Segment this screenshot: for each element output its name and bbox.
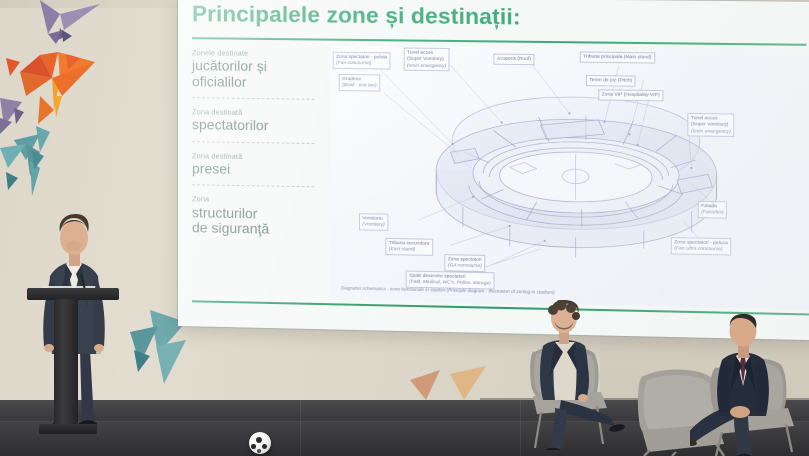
zone-item-security: Zona structurilor de siguranţă <box>192 195 325 248</box>
conference-room-scene: Principalele zone și destinații: Zonele … <box>0 0 809 456</box>
podium <box>27 288 119 438</box>
projection-screen: Principalele zone și destinații: Zonele … <box>178 0 809 340</box>
zone-label-big: presei <box>192 161 325 179</box>
diagram-label-gradene: Gradene (Bowl - one tier) <box>339 74 380 91</box>
panelist-right <box>690 312 809 456</box>
podium-base <box>39 424 97 434</box>
stadium-wireframe-icon <box>331 46 809 310</box>
zone-item-spectators: Zona destinată spectatorilor <box>192 107 325 144</box>
slide: Principalele zone și destinații: Zonele … <box>178 0 809 340</box>
football-icon <box>249 432 271 454</box>
zone-list: Zonele destinate jucătorilor și oficiali… <box>192 48 325 256</box>
diagram-label-tribuna-principala: Tribuna principala (Main stand) <box>580 51 655 63</box>
diagram-label-tunel-acces-top: Tunel acces (Super Vomitory) (Iesiri eme… <box>404 48 450 72</box>
zone-label-big: jucătorilor și oficialilor <box>192 58 325 91</box>
diagram-label-acoperis: Acoperis (Roof) <box>493 54 534 65</box>
floor-seam <box>300 400 301 456</box>
diagram-label-vomitoriu: Vomitoriu (Vomitory) <box>359 213 388 230</box>
floor-seam <box>520 400 521 456</box>
page-title: Principalele zone și destinații: <box>192 1 521 30</box>
zone-item-players: Zonele destinate jucătorilor și oficiali… <box>192 48 325 100</box>
zone-item-press: Zona destinată presei <box>192 151 325 188</box>
zone-label-big: structurilor de siguranţă <box>192 205 325 238</box>
panelist-left <box>527 300 647 450</box>
diagram-label-zona-spectatori-ga: Zona spectatori (GA concourse) <box>444 254 485 272</box>
diagram-label-tunel-acces-right: Tunel acces (Super Vomitory) (Iesiri eme… <box>687 113 734 137</box>
diagram-label-fatada: Fatada (Facades) <box>698 201 728 219</box>
stadium-diagram: Zona spectatori - peluta (Fan concourse)… <box>331 46 809 310</box>
zone-label-big: spectatorilor <box>192 117 325 134</box>
podium-column <box>54 299 78 427</box>
diagram-label-tribuna-secundara: Tribuna secundara (East stand) <box>385 238 432 256</box>
diagram-label-zona-vip: Zona VIP (Hospitality-VIP) <box>598 89 663 101</box>
title-divider <box>192 37 806 45</box>
diagram-label-teren-de-joc: Teren de joc (Pitch) <box>586 75 636 86</box>
diagram-label-fan-ultra: Zona spectatori - peluza (Fan Ultra conc… <box>671 237 732 255</box>
diagram-label-fan-concourse: Zona spectatori - peluta (Fan concourse) <box>333 52 391 70</box>
